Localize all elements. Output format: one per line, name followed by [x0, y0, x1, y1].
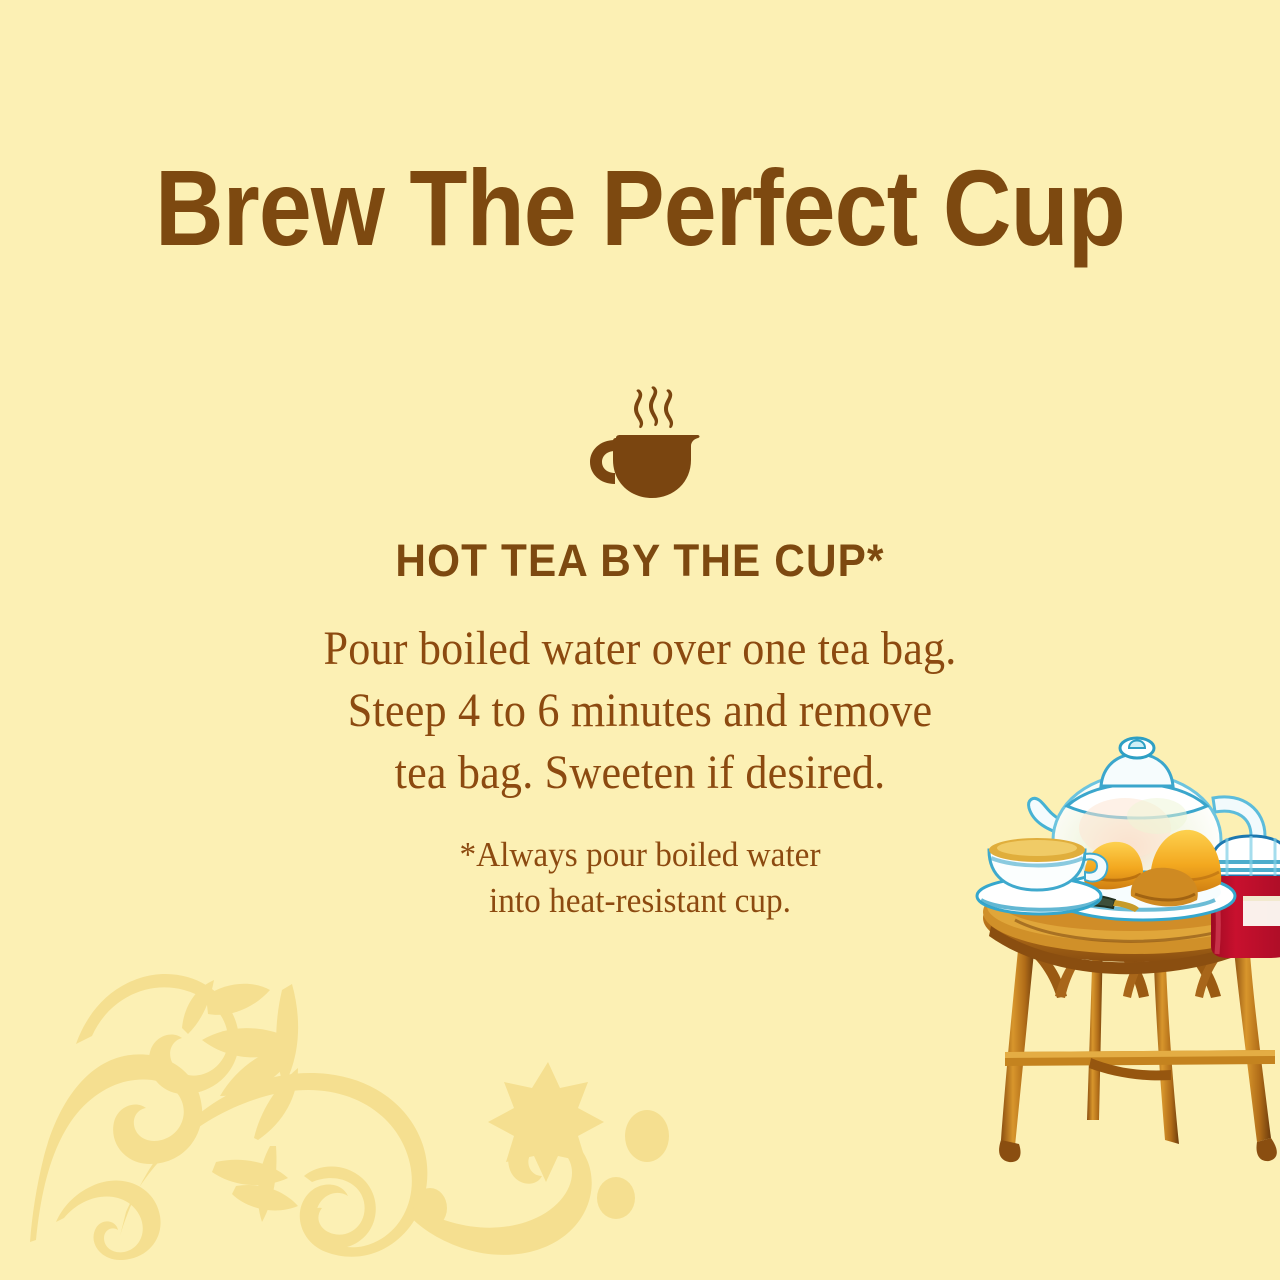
- page-title: Brew The Perfect Cup: [77, 152, 1203, 264]
- steaming-tea-cup-icon: [582, 378, 712, 503]
- floral-scroll-flourish: [30, 950, 730, 1260]
- tea-table-watercolor: [975, 700, 1280, 1190]
- poster-canvas: Brew The Perfect Cup HOT TEA BY THE CUP*…: [0, 0, 1280, 1280]
- instruction-line-1: Pour boiled water over one tea bag.: [51, 618, 1229, 680]
- section-heading: HOT TEA BY THE CUP*: [38, 536, 1241, 586]
